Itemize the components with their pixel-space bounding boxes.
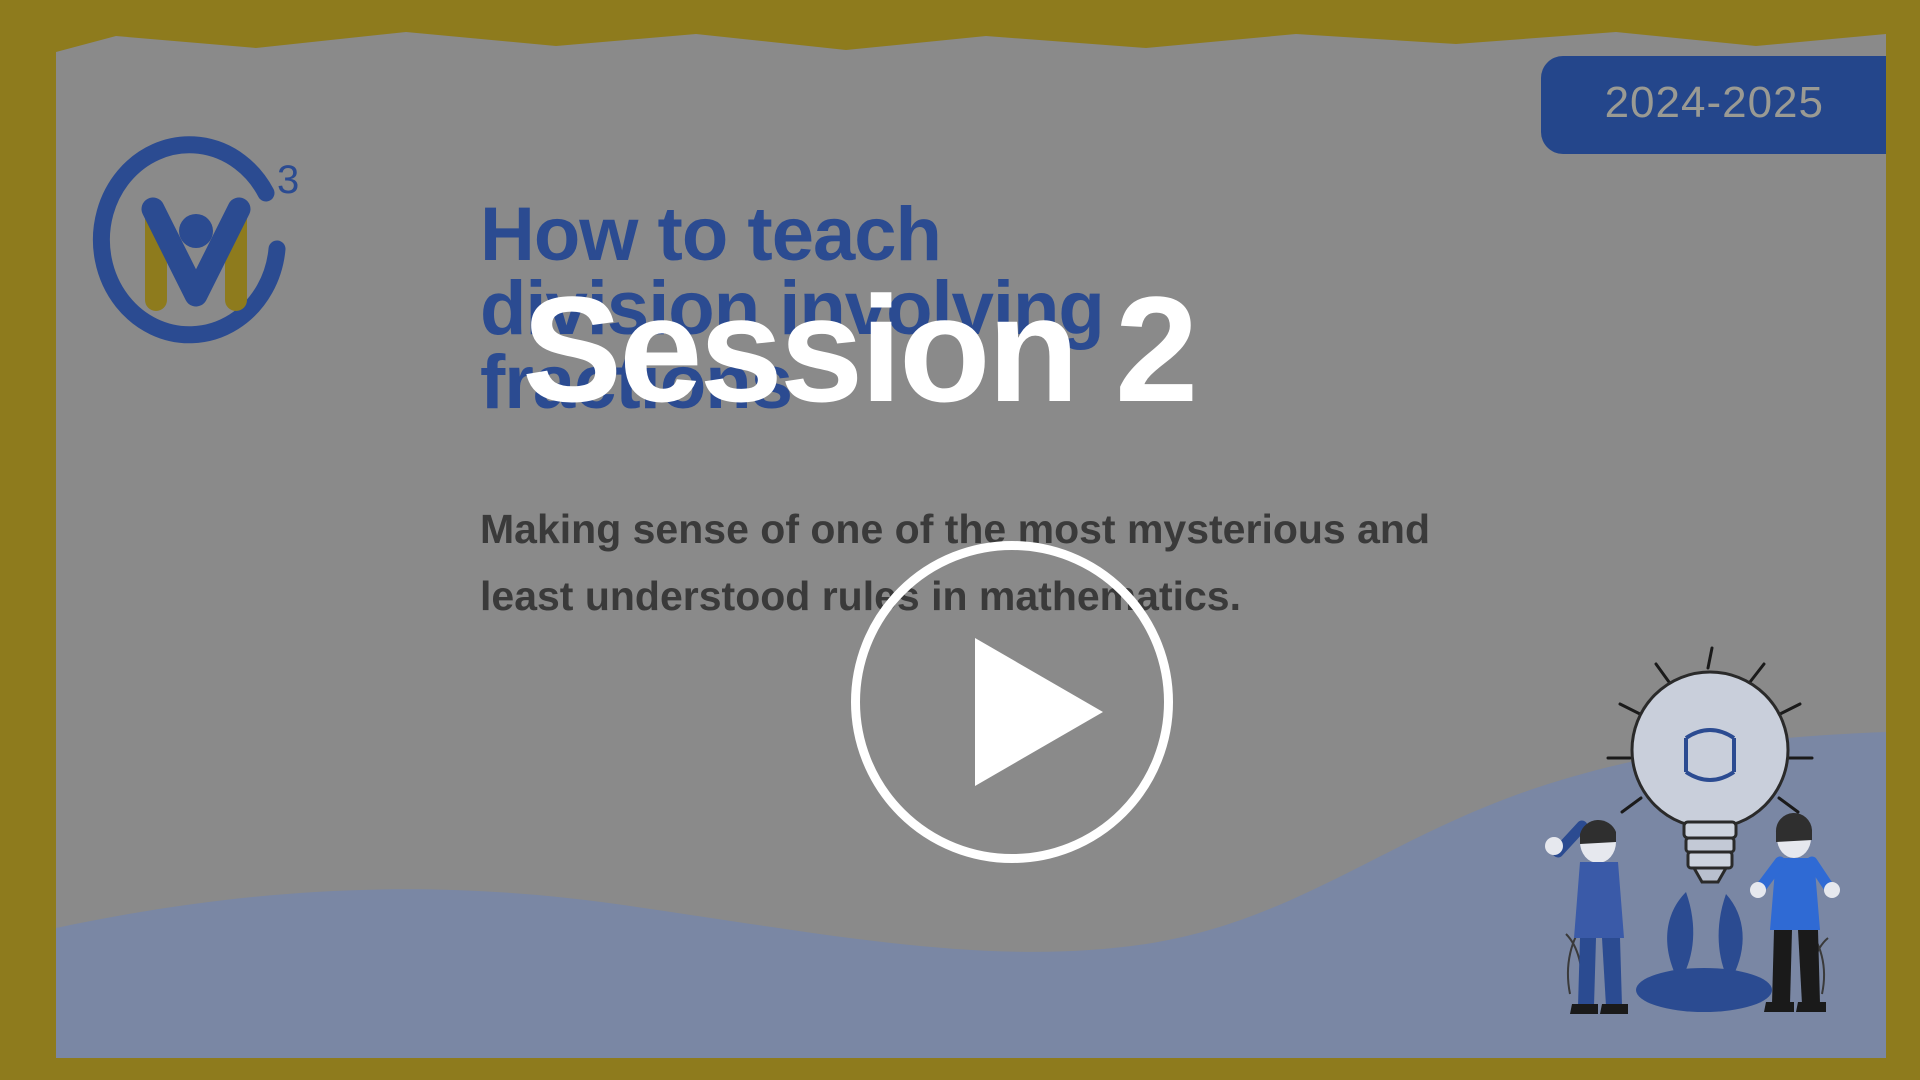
- subtitle-line-1: Making sense of one of the most mysterio…: [480, 496, 1770, 563]
- brush-stroke-top: [56, 26, 1886, 52]
- session-overlay-text: Session 2: [522, 274, 1195, 424]
- player-border-left: [0, 0, 56, 1080]
- bulb-base-1: [1684, 822, 1736, 838]
- bulb-tip: [1694, 868, 1726, 882]
- slide-canvas: 3 2024-2025 How to teach division involv…: [56, 26, 1886, 1058]
- title-line-1: How to teach: [480, 198, 1500, 272]
- play-triangle-icon: [975, 638, 1103, 786]
- year-badge[interactable]: 2024-2025: [1541, 56, 1886, 154]
- bulb-glass: [1632, 672, 1788, 828]
- lightbulb-illustration: [1536, 646, 1856, 1036]
- logo-superscript: 3: [277, 158, 299, 202]
- play-button[interactable]: [851, 541, 1173, 863]
- logo-head-dot: [179, 214, 213, 248]
- m-cubed-logo: 3: [81, 131, 311, 361]
- bulb-base-2: [1686, 838, 1734, 852]
- illustration-svg: [1536, 646, 1856, 1036]
- player-border-right: [1886, 0, 1920, 1080]
- logo-svg: 3: [81, 131, 311, 361]
- person-left: [1545, 820, 1628, 1014]
- bulb-base-3: [1688, 852, 1732, 868]
- plant-cluster: [1636, 892, 1772, 1012]
- video-player-frame[interactable]: 3 2024-2025 How to teach division involv…: [0, 0, 1920, 1080]
